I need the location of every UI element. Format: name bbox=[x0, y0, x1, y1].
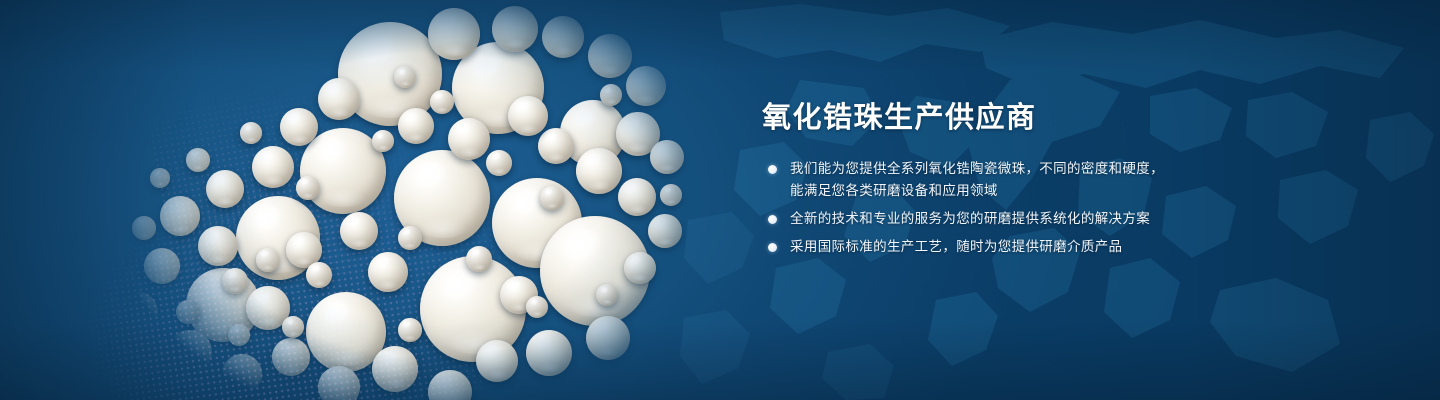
bead bbox=[486, 150, 512, 176]
bead bbox=[144, 248, 180, 284]
list-item: 我们能为您提供全系列氧化锆陶瓷微珠，不同的密度和硬度， 能满足您各类研磨设备和应… bbox=[762, 158, 1232, 202]
bead bbox=[596, 284, 618, 306]
bead bbox=[430, 90, 454, 114]
bead bbox=[186, 148, 210, 172]
bead bbox=[492, 6, 538, 52]
bead bbox=[160, 196, 200, 236]
bead bbox=[526, 296, 548, 318]
list-item: 采用国际标准的生产工艺，随时为您提供研磨介质产品 bbox=[762, 236, 1232, 258]
bead bbox=[576, 148, 622, 194]
bead bbox=[600, 84, 622, 106]
list-item: 全新的技术和专业的服务为您的研磨提供系统化的解决方案 bbox=[762, 208, 1232, 230]
bead bbox=[618, 178, 656, 216]
bead bbox=[588, 34, 632, 78]
bead bbox=[394, 66, 416, 88]
bead bbox=[540, 186, 564, 210]
bead bbox=[206, 170, 244, 208]
bead bbox=[448, 118, 490, 160]
bead bbox=[306, 262, 332, 288]
bead bbox=[398, 318, 422, 342]
bullet-dot-icon bbox=[768, 243, 777, 252]
list-item-line: 全新的技术和专业的服务为您的研磨提供系统化的解决方案 bbox=[790, 208, 1232, 230]
page-title: 氧化锆珠生产供应商 bbox=[762, 100, 1232, 136]
bead bbox=[340, 212, 378, 250]
bead bbox=[222, 268, 248, 294]
bead bbox=[508, 96, 548, 136]
bead bbox=[372, 346, 418, 392]
bead bbox=[368, 252, 408, 292]
bullet-dot-icon bbox=[768, 215, 777, 224]
bead bbox=[660, 184, 682, 206]
bead bbox=[624, 252, 656, 284]
bead bbox=[272, 338, 310, 376]
bead bbox=[428, 370, 472, 400]
bead bbox=[428, 8, 480, 60]
bead bbox=[648, 214, 682, 248]
bead bbox=[256, 248, 280, 272]
bead bbox=[282, 316, 304, 338]
hero-banner: 氧化锆珠生产供应商 我们能为您提供全系列氧化锆陶瓷微珠，不同的密度和硬度， 能满… bbox=[0, 0, 1440, 400]
list-item-line: 采用国际标准的生产工艺，随时为您提供研磨介质产品 bbox=[790, 236, 1232, 258]
bead bbox=[476, 340, 518, 382]
bead bbox=[126, 340, 148, 362]
banner-copy: 氧化锆珠生产供应商 我们能为您提供全系列氧化锆陶瓷微珠，不同的密度和硬度， 能满… bbox=[762, 100, 1232, 258]
bead bbox=[280, 108, 318, 146]
bead bbox=[586, 316, 630, 360]
zirconia-beads-image bbox=[0, 0, 740, 400]
bead bbox=[118, 292, 158, 332]
bead bbox=[650, 140, 684, 174]
bead bbox=[626, 66, 666, 106]
bead bbox=[168, 330, 212, 374]
bead bbox=[92, 306, 110, 324]
list-item-line: 我们能为您提供全系列氧化锆陶瓷微珠，不同的密度和硬度， bbox=[790, 158, 1232, 180]
bead bbox=[132, 216, 156, 240]
bead bbox=[222, 354, 262, 394]
bead bbox=[526, 330, 572, 376]
bead bbox=[466, 246, 492, 272]
bead bbox=[538, 128, 574, 164]
feature-list: 我们能为您提供全系列氧化锆陶瓷微珠，不同的密度和硬度， 能满足您各类研磨设备和应… bbox=[762, 158, 1232, 258]
bead bbox=[252, 146, 294, 188]
bead bbox=[150, 168, 170, 188]
bead bbox=[198, 226, 238, 266]
bead bbox=[542, 16, 584, 58]
bead bbox=[104, 252, 124, 272]
bead bbox=[398, 108, 434, 144]
bead bbox=[398, 226, 422, 250]
bead bbox=[372, 130, 394, 152]
bead bbox=[296, 176, 320, 200]
bead bbox=[228, 324, 250, 346]
list-item-line: 能满足您各类研磨设备和应用领域 bbox=[790, 180, 1232, 202]
bullet-dot-icon bbox=[768, 165, 777, 174]
bead bbox=[240, 122, 262, 144]
bead bbox=[176, 300, 200, 324]
bead bbox=[318, 366, 360, 400]
bead bbox=[318, 78, 360, 120]
